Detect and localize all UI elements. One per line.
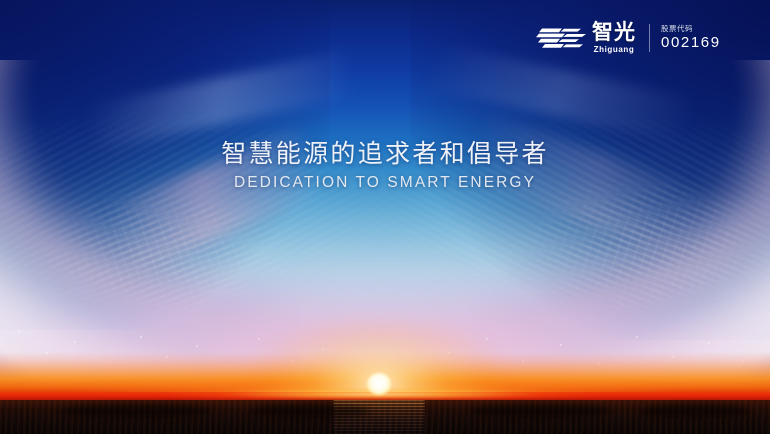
header-divider xyxy=(649,24,650,52)
sea-dark-patch xyxy=(60,404,210,418)
stock-code-value: 002169 xyxy=(661,35,721,52)
hero-tagline: 智慧能源的追求者和倡导者 DEDICATION TO SMART ENERGY xyxy=(0,140,770,192)
sea-dark-patch xyxy=(640,404,750,418)
brand-header[interactable]: 智光 Zhiguang 股票代码 002169 xyxy=(536,20,721,56)
zhiguang-logo-icon[interactable] xyxy=(536,23,588,53)
sea-dark-patch xyxy=(470,404,610,418)
brand-wordmark[interactable]: 智光 Zhiguang xyxy=(592,22,636,53)
stock-code-label: 股票代码 xyxy=(661,25,721,33)
stock-code-block: 股票代码 002169 xyxy=(661,25,721,52)
hero-banner: 智光 Zhiguang 股票代码 002169 智慧能源的追求者和倡导者 DED… xyxy=(0,0,770,434)
brand-name-en: Zhiguang xyxy=(594,46,635,54)
hero-headline-en: DEDICATION TO SMART ENERGY xyxy=(0,174,770,192)
hero-headline-cn: 智慧能源的追求者和倡导者 xyxy=(0,140,770,170)
sun-disk xyxy=(367,373,391,395)
sea-dark-patch xyxy=(250,404,370,418)
brand-name-cn: 智光 xyxy=(592,22,636,44)
